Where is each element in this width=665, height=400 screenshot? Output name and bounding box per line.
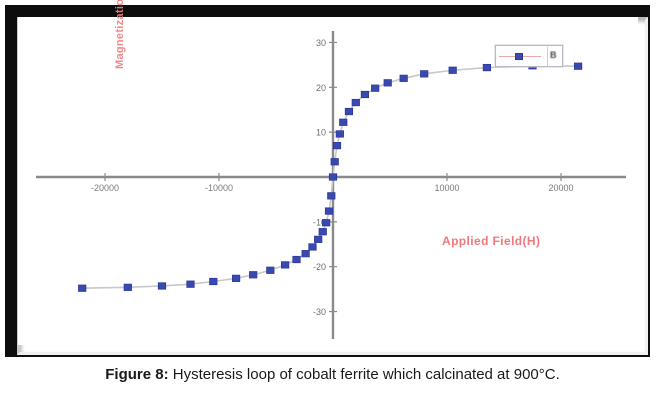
- data-point-marker: [267, 267, 275, 274]
- data-point-marker: [319, 228, 327, 235]
- data-point-marker: [328, 193, 336, 200]
- data-point-marker: [333, 142, 341, 149]
- legend-divider: [547, 47, 548, 66]
- x-tick-label: -20000: [91, 183, 119, 193]
- y-tick-label: -20: [313, 262, 326, 272]
- x-tick-label: 10000: [434, 183, 459, 193]
- legend-entry-label: B: [550, 50, 557, 60]
- data-point-marker: [336, 131, 344, 138]
- hysteresis-chart: -20000-100001000020000302010-10-20-30 Ma…: [18, 17, 638, 345]
- data-point-marker: [352, 99, 360, 106]
- data-point-marker: [340, 119, 348, 126]
- data-point-marker: [574, 63, 582, 70]
- x-axis-label: Applied Field(H): [442, 234, 540, 248]
- chart-legend: B: [495, 45, 563, 67]
- figure-caption-text: Hysteresis loop of cobalt ferrite which …: [169, 366, 560, 383]
- data-point-marker: [345, 108, 353, 115]
- data-point-marker: [325, 208, 333, 215]
- data-point-marker: [371, 85, 379, 92]
- data-point-marker: [309, 244, 317, 251]
- data-point-marker: [314, 236, 322, 243]
- legend-marker-icon: [515, 53, 523, 60]
- figure-caption-label: Figure 8:: [105, 366, 168, 383]
- figure-caption: Figure 8: Hysteresis loop of cobalt ferr…: [0, 366, 665, 383]
- data-point-marker: [322, 220, 330, 227]
- y-tick-label: 10: [316, 128, 326, 138]
- data-point-marker: [483, 64, 491, 71]
- data-point-marker: [293, 256, 301, 263]
- data-point-marker: [420, 71, 428, 78]
- data-point-marker: [78, 285, 86, 292]
- data-point-marker: [124, 284, 132, 291]
- data-point-marker: [449, 67, 457, 74]
- data-point-marker: [232, 275, 240, 282]
- y-tick-label: 20: [316, 83, 326, 93]
- data-point-marker: [302, 250, 310, 257]
- data-point-marker: [210, 278, 218, 285]
- y-tick-label: -30: [313, 307, 326, 317]
- data-point-marker: [281, 262, 289, 269]
- figure-page: -20000-100001000020000302010-10-20-30 Ma…: [0, 0, 665, 400]
- data-point-marker: [384, 80, 392, 87]
- plot-canvas: -20000-100001000020000302010-10-20-30 Ma…: [18, 17, 638, 345]
- data-point-marker: [400, 75, 408, 82]
- x-tick-label: -10000: [205, 183, 233, 193]
- legend-sample: [499, 50, 541, 62]
- data-point-marker: [158, 283, 166, 290]
- data-point-marker: [331, 159, 339, 166]
- data-point-marker: [361, 91, 369, 98]
- data-point-marker: [249, 272, 257, 279]
- y-tick-label: 30: [316, 38, 326, 48]
- y-axis-label: Magnetization (M): [114, 0, 126, 69]
- data-point-marker: [329, 174, 337, 181]
- x-tick-label: 20000: [548, 183, 573, 193]
- data-point-marker: [187, 281, 195, 288]
